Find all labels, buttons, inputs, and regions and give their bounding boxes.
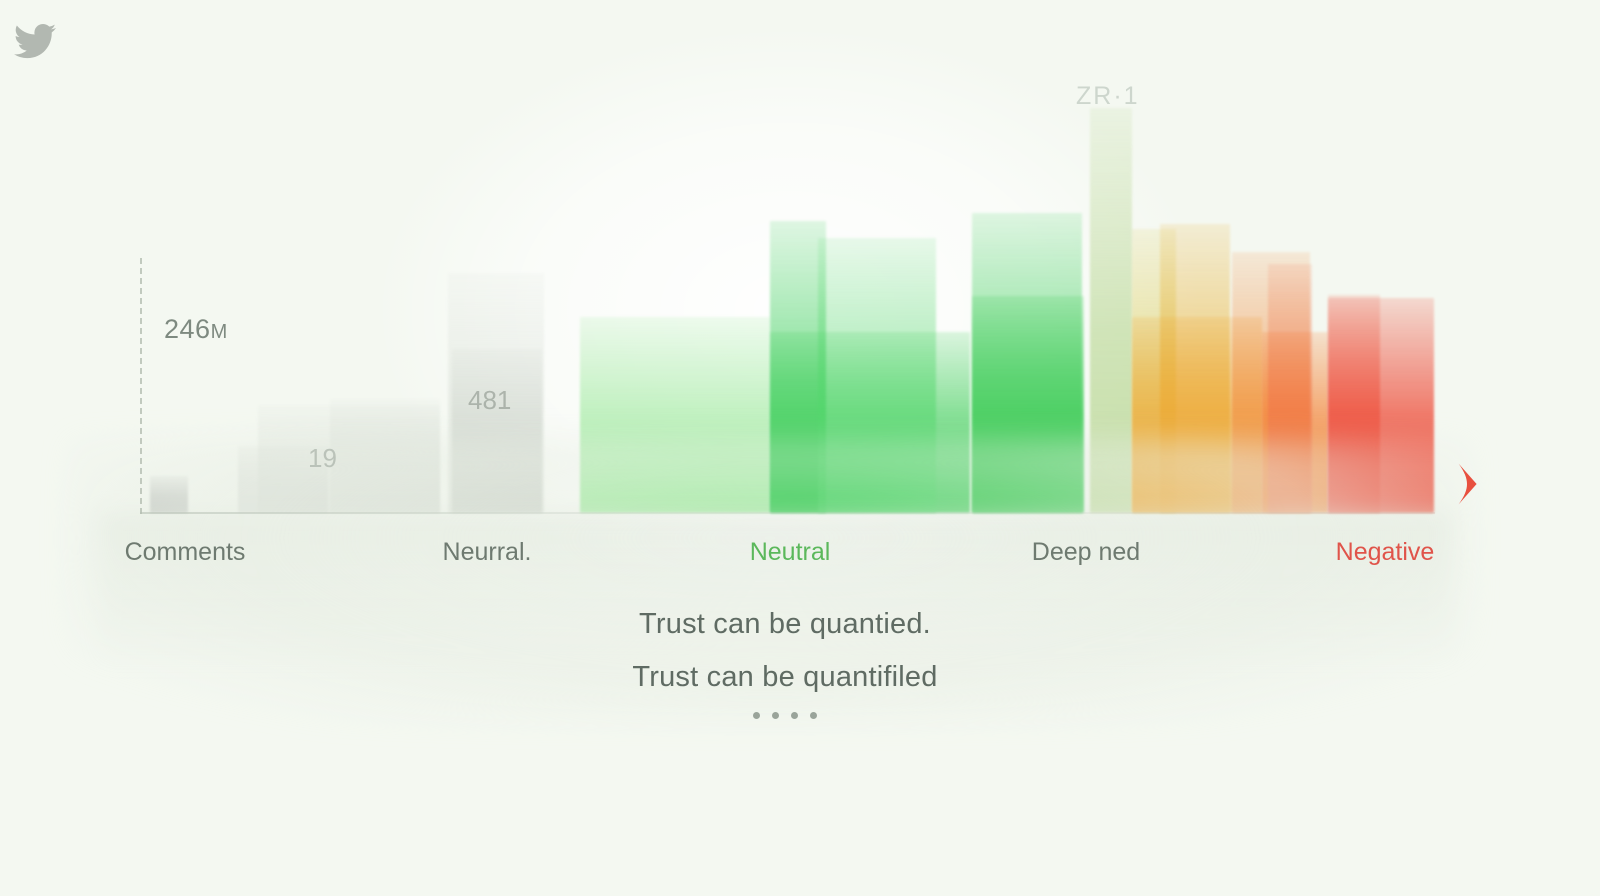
bar: [330, 399, 440, 513]
y-axis-dashed-line: [140, 258, 142, 514]
sentiment-bar-chart: 246M 19 481 ZR·1 CommentsNeurral.Neutral…: [0, 0, 1600, 896]
bar: [818, 238, 936, 513]
bar: [972, 296, 1084, 513]
y-axis-tick-label: 246M: [164, 314, 228, 345]
chevron-right-icon[interactable]: [1452, 460, 1482, 508]
bar-value-label-mid: 481: [468, 385, 511, 416]
bar: [1328, 298, 1434, 513]
x-axis-baseline: [140, 512, 1435, 514]
x-axis-label-1: Neurral.: [443, 538, 532, 567]
caption-dots: [0, 712, 1570, 719]
caption-block: Trust can be quantied. Trust can be quan…: [0, 608, 1570, 719]
x-axis-label-2: Neutral: [750, 538, 831, 567]
y-axis-tick-unit: M: [211, 321, 228, 343]
x-axis-label-3: Deep ned: [1032, 538, 1140, 567]
bar: [452, 349, 542, 513]
caption-dot: [791, 712, 798, 719]
caption-line-1: Trust can be quantied.: [0, 608, 1570, 641]
caption-dot: [772, 712, 779, 719]
x-axis-label-4: Negative: [1336, 538, 1435, 567]
bar: [1268, 264, 1312, 513]
caption-dot: [753, 712, 760, 719]
caption-line-2: Trust can be quantifiled: [0, 661, 1570, 694]
top-faint-annotation: ZR·1: [1076, 82, 1140, 111]
bar: [580, 317, 770, 513]
bar-value-label-left: 19: [308, 443, 337, 474]
caption-dot: [810, 712, 817, 719]
bar: [150, 476, 188, 513]
y-axis-tick-value: 246: [164, 314, 211, 344]
bar: [1090, 108, 1132, 513]
x-axis-label-0: Comments: [125, 538, 246, 567]
